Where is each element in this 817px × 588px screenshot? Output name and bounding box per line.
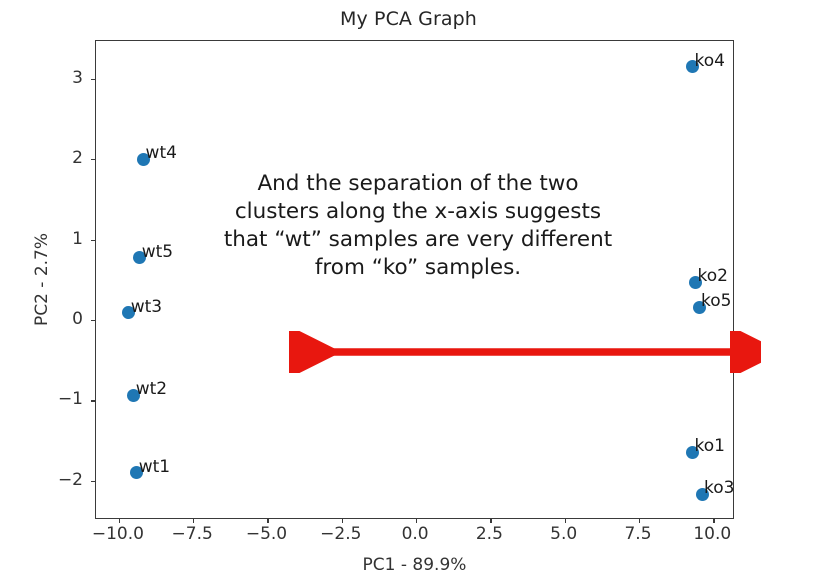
data-point-label-wt5: wt5 (142, 242, 173, 262)
y-tick-mark (91, 240, 96, 241)
x-tick-mark (565, 518, 566, 523)
y-tick-mark (91, 79, 96, 80)
y-tick-label: 3 (72, 68, 83, 88)
y-tick-mark (91, 481, 96, 482)
y-tick-mark (91, 320, 96, 321)
annotation-line: And the separation of the two (178, 170, 658, 198)
data-point-label-ko4: ko4 (694, 51, 724, 71)
y-axis-label: PC2 - 2.7% (32, 40, 52, 519)
y-tick-label: −1 (58, 389, 83, 409)
x-tick-mark (490, 518, 491, 523)
y-tick-mark (91, 400, 96, 401)
data-point-label-ko2: ko2 (697, 266, 727, 286)
chart-title: My PCA Graph (0, 8, 817, 30)
separation-arrow-icon (276, 331, 761, 373)
x-tick-label: 10.0 (693, 524, 731, 544)
data-point-label-wt4: wt4 (146, 143, 177, 163)
annotation-line: from “ko” samples. (178, 254, 658, 282)
x-tick-label: −5.0 (246, 524, 287, 544)
data-point-label-ko1: ko1 (694, 436, 724, 456)
x-tick-label: 2.5 (476, 524, 503, 544)
annotation-line: clusters along the x-axis suggests (178, 198, 658, 226)
y-tick-label: 1 (72, 229, 83, 249)
x-tick-mark (639, 518, 640, 523)
data-point-label-ko3: ko3 (704, 478, 734, 498)
y-tick-label: −2 (58, 470, 83, 490)
pca-scatter-figure: My PCA Graph wt4wt5wt3wt2wt1ko4ko2ko5ko1… (0, 0, 817, 588)
x-tick-mark (713, 518, 714, 523)
x-tick-mark (267, 518, 268, 523)
x-tick-label: 7.5 (624, 524, 651, 544)
x-tick-mark (119, 518, 120, 523)
x-axis-label: PC1 - 89.9% (95, 555, 734, 575)
y-tick-mark (91, 159, 96, 160)
data-point-label-wt1: wt1 (139, 457, 170, 477)
x-tick-label: 5.0 (550, 524, 577, 544)
x-tick-label: 0.0 (402, 524, 429, 544)
data-point-label-wt3: wt3 (131, 297, 162, 317)
x-tick-label: −7.5 (172, 524, 213, 544)
x-tick-label: −10.0 (92, 524, 144, 544)
x-tick-mark (193, 518, 194, 523)
x-tick-mark (416, 518, 417, 523)
y-tick-label: 0 (72, 309, 83, 329)
annotation-line: that “wt” samples are very different (178, 226, 658, 254)
annotation-text: And the separation of the twoclusters al… (178, 170, 658, 282)
y-tick-label: 2 (72, 148, 83, 168)
x-tick-label: −2.5 (320, 524, 361, 544)
data-point-label-wt2: wt2 (136, 379, 167, 399)
data-point-label-ko5: ko5 (701, 291, 731, 311)
x-tick-mark (342, 518, 343, 523)
